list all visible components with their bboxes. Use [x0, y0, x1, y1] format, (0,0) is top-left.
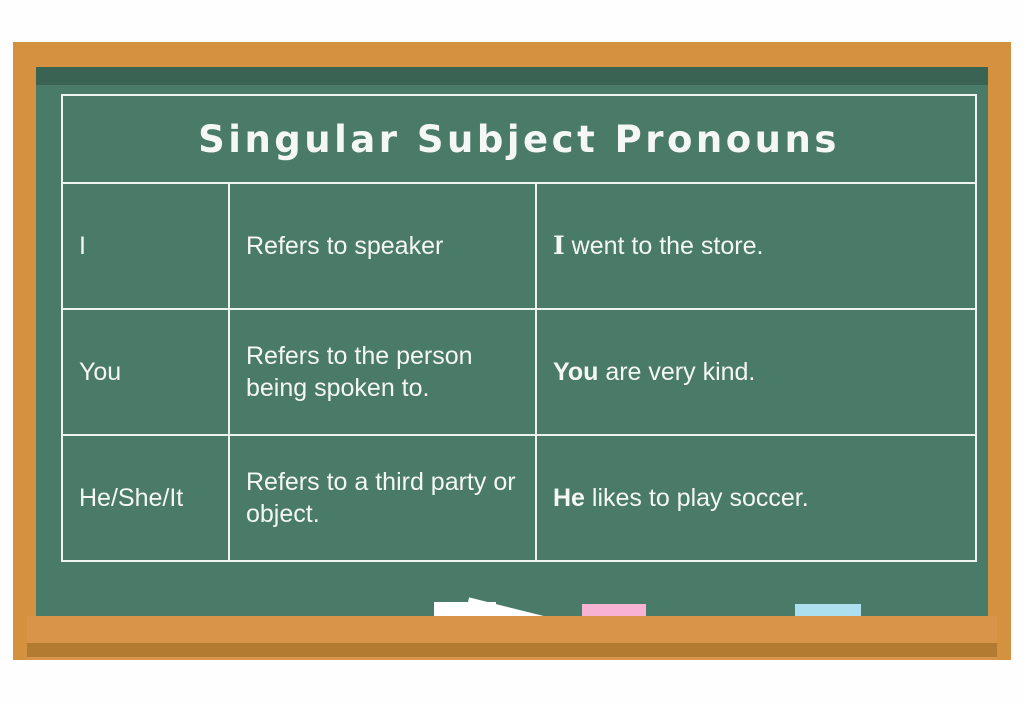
- cell-meaning: Refers to the person being spoken to.: [230, 310, 537, 434]
- meaning-label: Refers to the person being spoken to.: [246, 340, 519, 405]
- example-highlight: You: [553, 358, 598, 386]
- example-highlight: He: [553, 484, 585, 512]
- example-sentence: You are very kind.: [553, 356, 755, 389]
- cell-meaning: Refers to a third party or object.: [230, 436, 537, 560]
- pronoun-label: You: [79, 356, 121, 389]
- meaning-label: Refers to speaker: [246, 230, 443, 263]
- example-sentence: He likes to play soccer.: [553, 482, 809, 515]
- pronoun-label: He/She/It: [79, 482, 183, 515]
- cell-pronoun: You: [63, 310, 230, 434]
- example-sentence: I went to the store.: [553, 230, 763, 263]
- table-row: You Refers to the person being spoken to…: [63, 310, 975, 436]
- table-row: I Refers to speaker I went to the store.: [63, 184, 975, 310]
- cell-example: He likes to play soccer.: [537, 436, 975, 560]
- cell-example: I went to the store.: [537, 184, 975, 308]
- cell-example: You are very kind.: [537, 310, 975, 434]
- cell-meaning: Refers to speaker: [230, 184, 537, 308]
- example-rest: likes to play soccer.: [585, 484, 809, 512]
- example-highlight: I: [553, 231, 565, 260]
- pronoun-label: I: [79, 230, 86, 263]
- page-title: Singular Subject Pronouns: [198, 118, 840, 161]
- cell-pronoun: He/She/It: [63, 436, 230, 560]
- chalk-tray-lip: [27, 643, 997, 657]
- table-title-row: Singular Subject Pronouns: [63, 96, 975, 184]
- example-rest: are very kind.: [598, 358, 755, 386]
- cell-pronoun: I: [63, 184, 230, 308]
- chalkboard-poster: Singular Subject Pronouns I Refers to sp…: [0, 0, 1024, 705]
- example-rest: went to the store.: [565, 232, 764, 260]
- meaning-label: Refers to a third party or object.: [246, 466, 519, 531]
- table-row: He/She/It Refers to a third party or obj…: [63, 436, 975, 560]
- pronouns-table: Singular Subject Pronouns I Refers to sp…: [61, 94, 977, 562]
- chalkboard-top-shadow: [36, 67, 988, 85]
